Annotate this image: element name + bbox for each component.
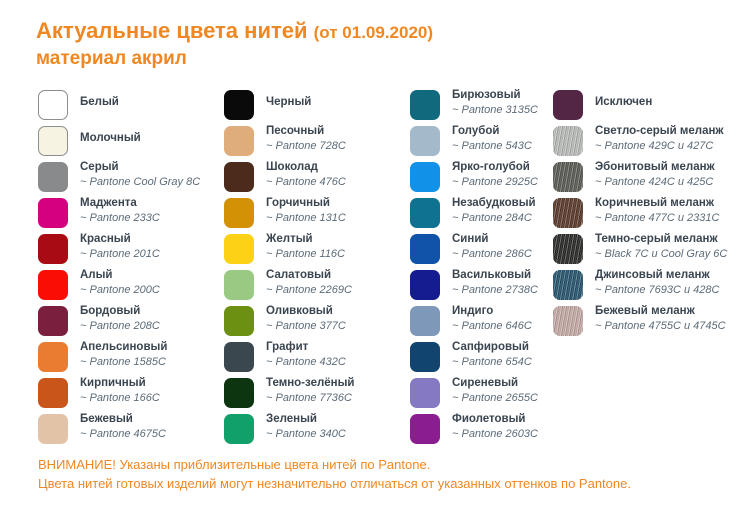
color-name: Коричневый меланж (595, 196, 719, 211)
color-entry: Кирпичный~ Pantone 166C (38, 376, 228, 412)
color-pantone-code: ~ Pantone 4675C (80, 427, 166, 441)
color-labels: Светло-серый меланж~ Pantone 429C и 427C (595, 124, 724, 153)
color-labels: Песочный~ Pantone 728C (266, 124, 346, 153)
color-pantone-code: ~ Pantone 2655C (452, 391, 538, 405)
color-labels: Черный (266, 88, 311, 110)
color-swatch (410, 198, 440, 228)
color-pantone-code: ~ Pantone 7736C (266, 391, 355, 405)
color-name: Белый (80, 88, 119, 110)
color-swatch (553, 126, 583, 156)
color-pantone-code: ~ Pantone 2603C (452, 427, 538, 441)
color-labels: Горчичный~ Pantone 131C (266, 196, 346, 225)
color-entry: Коричневый меланж~ Pantone 477C и 2331C (553, 196, 750, 232)
color-swatch (410, 378, 440, 408)
color-swatch (224, 378, 254, 408)
color-name: Зеленый (266, 412, 346, 427)
color-name: Васильковый (452, 268, 538, 283)
color-entry: Темно-зелёный~ Pantone 7736C (224, 376, 414, 412)
color-pantone-code: ~ Pantone 432C (266, 355, 346, 369)
color-entry: Апельсиновый~ Pantone 1585C (38, 340, 228, 376)
color-swatch (410, 414, 440, 444)
color-name: Салатовый (266, 268, 352, 283)
page-header: Актуальные цвета нитей (от 01.09.2020) м… (36, 18, 716, 71)
color-name: Темно-серый меланж (595, 232, 727, 247)
color-labels: Алый~ Pantone 200C (80, 268, 160, 297)
color-swatch (553, 90, 583, 120)
color-labels: Оливковый~ Pantone 377C (266, 304, 346, 333)
color-entry: Оливковый~ Pantone 377C (224, 304, 414, 340)
color-swatch (410, 162, 440, 192)
color-swatch (224, 234, 254, 264)
color-entry: Бордовый~ Pantone 208C (38, 304, 228, 340)
color-labels: Ярко-голубой~ Pantone 2925C (452, 160, 538, 189)
color-name: Кирпичный (80, 376, 160, 391)
color-swatch (38, 90, 68, 120)
color-pantone-code: ~ Pantone 200C (80, 283, 160, 297)
color-pantone-code: ~ Pantone 424C и 425C (595, 175, 715, 189)
color-name: Голубой (452, 124, 532, 139)
color-pantone-code: ~ Pantone 654C (452, 355, 532, 369)
color-entry: Эбонитовый меланж~ Pantone 424C и 425C (553, 160, 750, 196)
color-labels: Темно-зелёный~ Pantone 7736C (266, 376, 355, 405)
color-labels: Сапфировый~ Pantone 654C (452, 340, 532, 369)
color-swatch (410, 90, 440, 120)
color-labels: Голубой~ Pantone 543C (452, 124, 532, 153)
color-labels: Кирпичный~ Pantone 166C (80, 376, 160, 405)
color-pantone-code: ~ Pantone 476C (266, 175, 346, 189)
color-labels: Зеленый~ Pantone 340C (266, 412, 346, 441)
color-name: Апельсиновый (80, 340, 167, 355)
color-name: Маджента (80, 196, 160, 211)
color-entry: Бежевый~ Pantone 4675C (38, 412, 228, 448)
color-labels: Белый (80, 88, 119, 110)
color-swatch (224, 414, 254, 444)
color-labels: Молочный (80, 124, 141, 146)
color-swatch (38, 162, 68, 192)
color-entry: Серый~ Pantone Cool Gray 8C (38, 160, 228, 196)
color-entry: Алый~ Pantone 200C (38, 268, 228, 304)
color-entry: Светло-серый меланж~ Pantone 429C и 427C (553, 124, 750, 160)
color-labels: Желтый~ Pantone 116C (266, 232, 345, 261)
color-entry: Темно-серый меланж~ Black 7C и Cool Gray… (553, 232, 750, 268)
color-name: Бежевый (80, 412, 166, 427)
color-name: Оливковый (266, 304, 346, 319)
color-name: Шоколад (266, 160, 346, 175)
color-entry: Сапфировый~ Pantone 654C (410, 340, 600, 376)
color-labels: Синий~ Pantone 286C (452, 232, 532, 261)
color-name: Бежевый меланж (595, 304, 726, 319)
color-name: Фиолетовый (452, 412, 538, 427)
color-entry: Красный~ Pantone 201C (38, 232, 228, 268)
color-labels: Шоколад~ Pantone 476C (266, 160, 346, 189)
color-labels: Сиреневый~ Pantone 2655C (452, 376, 538, 405)
color-entry: Джинсовый меланж~ Pantone 7693C и 428C (553, 268, 750, 304)
color-pantone-code: ~ Pantone 340C (266, 427, 346, 441)
color-entry: Шоколад~ Pantone 476C (224, 160, 414, 196)
color-swatch (410, 306, 440, 336)
color-name: Светло-серый меланж (595, 124, 724, 139)
color-entry: Зеленый~ Pantone 340C (224, 412, 414, 448)
color-pantone-code: ~ Pantone 284C (452, 211, 536, 225)
color-entry: Салатовый~ Pantone 2269C (224, 268, 414, 304)
color-labels: Индиго~ Pantone 646C (452, 304, 532, 333)
color-pantone-code: ~ Pantone 131C (266, 211, 346, 225)
color-palette-grid: БелыйМолочныйСерый~ Pantone Cool Gray 8C… (0, 88, 750, 433)
color-swatch (410, 126, 440, 156)
color-pantone-code: ~ Pantone 2925C (452, 175, 538, 189)
color-entry: Бежевый меланж~ Pantone 4755C и 4745C (553, 304, 750, 340)
color-swatch (38, 306, 68, 336)
color-pantone-code: ~ Pantone 116C (266, 247, 345, 261)
color-name: Сапфировый (452, 340, 532, 355)
disclaimer-line-2: Цвета нитей готовых изделий могут незнач… (38, 474, 738, 493)
color-labels: Джинсовый меланж~ Pantone 7693C и 428C (595, 268, 719, 297)
color-labels: Бордовый~ Pantone 208C (80, 304, 160, 333)
color-pantone-code: ~ Pantone 208C (80, 319, 160, 333)
color-entry: Молочный (38, 124, 228, 160)
color-pantone-code: ~ Pantone 646C (452, 319, 532, 333)
color-labels: Бежевый~ Pantone 4675C (80, 412, 166, 441)
page-subtitle: материал акрил (36, 47, 716, 71)
color-entry: Исключен (553, 88, 750, 124)
color-labels: Темно-серый меланж~ Black 7C и Cool Gray… (595, 232, 727, 261)
color-labels: Красный~ Pantone 201C (80, 232, 160, 261)
color-swatch (38, 342, 68, 372)
color-swatch (38, 378, 68, 408)
color-swatch (410, 270, 440, 300)
color-name: Джинсовый меланж (595, 268, 719, 283)
color-swatch (224, 198, 254, 228)
color-labels: Незабудковый~ Pantone 284C (452, 196, 536, 225)
color-labels: Салатовый~ Pantone 2269C (266, 268, 352, 297)
color-pantone-code: ~ Pantone 233C (80, 211, 160, 225)
color-pantone-code: ~ Pantone 377C (266, 319, 346, 333)
disclaimer-footer: ВНИМАНИЕ! Указаны приблизительные цвета … (38, 455, 738, 493)
color-labels: Эбонитовый меланж~ Pantone 424C и 425C (595, 160, 715, 189)
color-labels: Исключен (595, 88, 652, 110)
color-swatch (410, 342, 440, 372)
color-labels: Коричневый меланж~ Pantone 477C и 2331C (595, 196, 719, 225)
color-swatch (553, 306, 583, 336)
color-entry: Желтый~ Pantone 116C (224, 232, 414, 268)
color-labels: Маджента~ Pantone 233C (80, 196, 160, 225)
color-name: Исключен (595, 88, 652, 110)
color-pantone-code: ~ Pantone 201C (80, 247, 160, 261)
color-name: Графит (266, 340, 346, 355)
color-name: Горчичный (266, 196, 346, 211)
color-swatch (410, 234, 440, 264)
color-swatch (224, 126, 254, 156)
color-labels: Фиолетовый~ Pantone 2603C (452, 412, 538, 441)
color-swatch (38, 198, 68, 228)
color-swatch (38, 234, 68, 264)
color-name: Песочный (266, 124, 346, 139)
color-pantone-code: ~ Pantone Cool Gray 8C (80, 175, 200, 189)
color-name: Серый (80, 160, 200, 175)
color-labels: Бирюзовый~ Pantone 3135C (452, 88, 538, 117)
color-pantone-code: ~ Pantone 1585C (80, 355, 167, 369)
color-name: Черный (266, 88, 311, 110)
palette-column-1: БелыйМолочныйСерый~ Pantone Cool Gray 8C… (38, 88, 228, 448)
color-name: Ярко-голубой (452, 160, 538, 175)
page-title-main: Актуальные цвета нитей (36, 18, 308, 43)
color-pantone-code: ~ Pantone 2738C (452, 283, 538, 297)
color-entry: Белый (38, 88, 228, 124)
color-name: Сиреневый (452, 376, 538, 391)
color-pantone-code: ~ Pantone 543C (452, 139, 532, 153)
color-name: Индиго (452, 304, 532, 319)
color-swatch (224, 342, 254, 372)
color-pantone-code: ~ Pantone 477C и 2331C (595, 211, 719, 225)
color-labels: Серый~ Pantone Cool Gray 8C (80, 160, 200, 189)
color-swatch (553, 198, 583, 228)
page-title-date: (от 01.09.2020) (314, 23, 433, 42)
color-swatch (553, 270, 583, 300)
color-entry: Черный (224, 88, 414, 124)
color-swatch (224, 306, 254, 336)
page-title: Актуальные цвета нитей (от 01.09.2020) (36, 18, 716, 46)
color-pantone-code: ~ Pantone 166C (80, 391, 160, 405)
color-swatch (224, 162, 254, 192)
color-pantone-code: ~ Pantone 7693C и 428C (595, 283, 719, 297)
color-pantone-code: ~ Pantone 3135C (452, 103, 538, 117)
color-name: Эбонитовый меланж (595, 160, 715, 175)
color-name: Бордовый (80, 304, 160, 319)
color-entry: Песочный~ Pantone 728C (224, 124, 414, 160)
color-pantone-code: ~ Pantone 429C и 427C (595, 139, 724, 153)
color-name: Бирюзовый (452, 88, 538, 103)
color-swatch (38, 414, 68, 444)
color-swatch (224, 90, 254, 120)
color-pantone-code: ~ Black 7C и Cool Gray 6C (595, 247, 727, 261)
color-swatch (553, 162, 583, 192)
color-labels: Апельсиновый~ Pantone 1585C (80, 340, 167, 369)
color-entry: Фиолетовый~ Pantone 2603C (410, 412, 600, 448)
color-swatch (38, 126, 68, 156)
color-entry: Маджента~ Pantone 233C (38, 196, 228, 232)
color-labels: Васильковый~ Pantone 2738C (452, 268, 538, 297)
color-labels: Бежевый меланж~ Pantone 4755C и 4745C (595, 304, 726, 333)
color-pantone-code: ~ Pantone 728C (266, 139, 346, 153)
color-entry: Графит~ Pantone 432C (224, 340, 414, 376)
color-name: Желтый (266, 232, 345, 247)
color-entry: Сиреневый~ Pantone 2655C (410, 376, 600, 412)
color-pantone-code: ~ Pantone 4755C и 4745C (595, 319, 726, 333)
color-swatch (224, 270, 254, 300)
color-labels: Графит~ Pantone 432C (266, 340, 346, 369)
color-name: Незабудковый (452, 196, 536, 211)
color-name: Алый (80, 268, 160, 283)
color-pantone-code: ~ Pantone 286C (452, 247, 532, 261)
color-swatch (38, 270, 68, 300)
color-swatch (553, 234, 583, 264)
palette-column-4: ИсключенСветло-серый меланж~ Pantone 429… (553, 88, 750, 340)
palette-column-2: ЧерныйПесочный~ Pantone 728CШоколад~ Pan… (224, 88, 414, 448)
color-name: Молочный (80, 124, 141, 146)
disclaimer-line-1: ВНИМАНИЕ! Указаны приблизительные цвета … (38, 455, 738, 474)
color-entry: Горчичный~ Pantone 131C (224, 196, 414, 232)
color-pantone-code: ~ Pantone 2269C (266, 283, 352, 297)
color-name: Синий (452, 232, 532, 247)
color-name: Красный (80, 232, 160, 247)
color-name: Темно-зелёный (266, 376, 355, 391)
